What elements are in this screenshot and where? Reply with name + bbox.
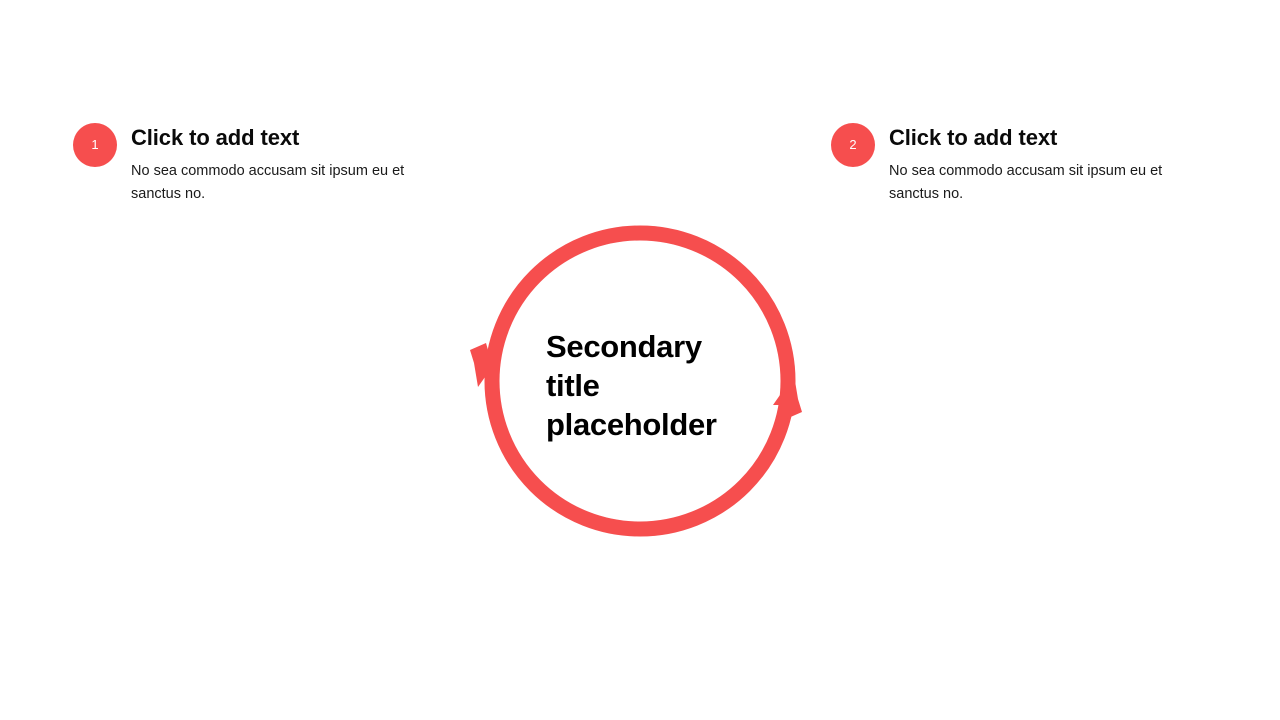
slide-canvas: 1 Click to add text No sea commodo accus…	[0, 0, 1280, 720]
list-item-text: Click to add text No sea commodo accusam…	[889, 123, 1201, 206]
list-item-text: Click to add text No sea commodo accusam…	[131, 123, 443, 206]
step-number-badge: 1	[73, 123, 117, 167]
step-number-badge: 2	[831, 123, 875, 167]
list-item-body[interactable]: No sea commodo accusam sit ipsum eu et s…	[131, 160, 443, 206]
list-item[interactable]: 2 Click to add text No sea commodo accus…	[831, 123, 1221, 206]
list-item[interactable]: 1 Click to add text No sea commodo accus…	[73, 123, 463, 206]
list-item-title[interactable]: Click to add text	[131, 125, 443, 151]
list-item-title[interactable]: Click to add text	[889, 125, 1201, 151]
list-item-body[interactable]: No sea commodo accusam sit ipsum eu et s…	[889, 160, 1201, 206]
page-title[interactable]: Secondary title placeholder	[546, 327, 746, 444]
